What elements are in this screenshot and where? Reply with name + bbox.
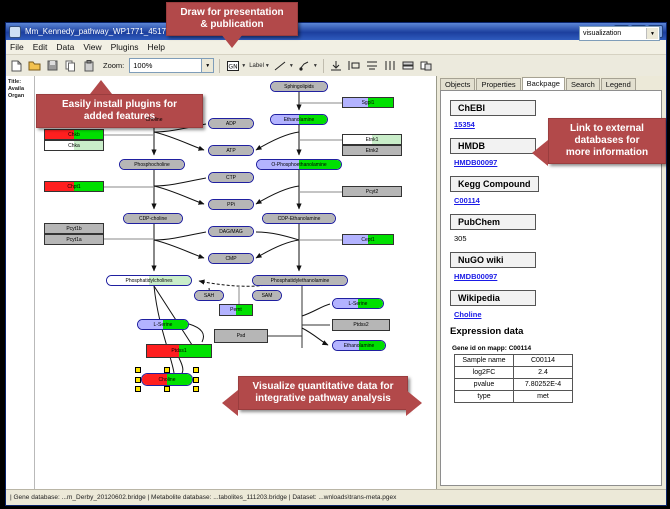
expr-key: log2FC: [455, 367, 514, 379]
svg-text:GN: GN: [228, 63, 237, 70]
interaction-icon[interactable]: [297, 58, 312, 73]
node-label: CMP: [225, 256, 236, 262]
node-label: L-Serine: [349, 301, 368, 307]
wikipedia-header: Wikipedia: [450, 290, 536, 306]
datanode-tool[interactable]: GN ▼: [225, 58, 246, 73]
expr-value: 7.80252E-4: [514, 379, 573, 391]
menu-view[interactable]: View: [83, 42, 101, 52]
tab-objects[interactable]: Objects: [440, 78, 475, 90]
new-file-icon[interactable]: [9, 58, 24, 73]
zoom-combobox[interactable]: 100% ▼: [129, 58, 214, 73]
links-callout-line2: databases for: [554, 135, 660, 147]
expr-value: C00114: [514, 355, 573, 367]
gene-node-pemt[interactable]: Pemt: [219, 304, 253, 316]
node-label: ATP: [226, 148, 235, 154]
metabolite-node-phosphatidylcholines[interactable]: Phosphatidylcholines: [106, 275, 192, 286]
node-label: Pcyt1a: [66, 237, 81, 243]
visualize-callout-arrow-left-icon: [222, 390, 238, 416]
gene-node-psd[interactable]: Psd: [214, 329, 268, 343]
datanode-icon[interactable]: GN: [225, 58, 240, 73]
align-left-icon[interactable]: [347, 58, 362, 73]
plugins-callout-line2: added features: [45, 111, 194, 123]
gene-node-ptdss2[interactable]: Ptdss2: [332, 319, 390, 331]
links-callout-line1: Link to external: [554, 123, 660, 135]
database-entry-nugo: NuGO wiki HMDB00097: [450, 250, 661, 281]
node-label: Chka: [68, 143, 80, 149]
save-icon[interactable]: [45, 58, 60, 73]
metabolite-node-l-serine[interactable]: L-Serine: [332, 298, 384, 309]
node-label: Psd: [237, 333, 246, 339]
node-label: CDP-Ethanolamine: [278, 216, 321, 222]
toolbar: Zoom: 100% ▼ GN ▼ Label▼ ▼ ▼: [6, 55, 666, 77]
gene-node-ptdss1[interactable]: Ptdss1: [146, 344, 212, 358]
links-callout-arrow-icon: [532, 140, 548, 166]
metabolite-node-sam[interactable]: SAM: [252, 290, 282, 301]
gene-node-etnk1[interactable]: Etnk1: [342, 134, 402, 145]
bring-front-icon[interactable]: [419, 58, 434, 73]
menu-help[interactable]: Help: [148, 42, 165, 52]
metabolite-node-phosphatidylethanolamine[interactable]: Phosphatidylethanolamine: [252, 275, 348, 286]
selection-handle[interactable]: [135, 367, 141, 373]
metabolite-node-sah[interactable]: SAH: [194, 290, 224, 301]
paste-icon[interactable]: [81, 58, 96, 73]
gene-node-chkb[interactable]: Chkb: [44, 129, 104, 140]
node-label: CDP-choline: [139, 216, 167, 222]
plugins-callout-arrow-icon: [90, 80, 112, 94]
toolbar-divider: [323, 59, 324, 73]
node-label: Pcyt1b: [66, 226, 81, 232]
metabolite-node-dag-mag[interactable]: DAG/MAG: [208, 226, 254, 237]
screenshot-root: Mm_Kennedy_pathway_WP1771_45176.gpml _ □…: [0, 0, 670, 509]
menu-edit[interactable]: Edit: [33, 42, 48, 52]
open-folder-icon[interactable]: [27, 58, 42, 73]
label-tool[interactable]: Label▼: [249, 63, 270, 69]
chebi-header: ChEBI: [450, 100, 536, 116]
expr-key: type: [455, 391, 514, 403]
tab-search[interactable]: Search: [566, 78, 600, 90]
pathway-diagram[interactable]: SphingolipidsEthanolamineO-Phosphoethano…: [34, 76, 436, 489]
chevron-down-icon[interactable]: ▼: [289, 63, 294, 69]
distribute-vertical-icon[interactable]: [365, 58, 380, 73]
metabolite-node-adp[interactable]: ADP: [208, 118, 254, 129]
line-tool[interactable]: ▼: [273, 58, 294, 73]
menu-plugins[interactable]: Plugins: [111, 42, 139, 52]
nugo-header: NuGO wiki: [450, 252, 536, 268]
expr-value: met: [514, 391, 573, 403]
node-label: Choline: [146, 117, 163, 123]
pathway-meta-sidebar: Title: Availa Organ: [6, 76, 35, 489]
draw-callout-line2: & publication: [175, 19, 289, 31]
metabolite-node-sphingolipids[interactable]: Sphingolipids: [270, 81, 328, 92]
metabolite-node-choline[interactable]: Choline: [141, 373, 193, 386]
menu-bar: File Edit Data View Plugins Help: [6, 40, 666, 55]
pathway-canvas[interactable]: Title: Availa Organ: [6, 76, 437, 489]
interaction-tool[interactable]: ▼: [297, 58, 318, 73]
node-label: DAG/MAG: [219, 229, 243, 235]
gene-node-etnk2[interactable]: Etnk2: [342, 145, 402, 156]
plugins-callout-line1: Easily install plugins for: [45, 99, 194, 111]
metabolite-node-cdp-choline[interactable]: CDP-choline: [123, 213, 183, 224]
table-row: Sample name C00114: [455, 355, 573, 367]
gene-node-pcyt1b[interactable]: Pcyt1b: [44, 223, 104, 234]
label-tool-text[interactable]: Label: [249, 63, 264, 69]
zoom-value[interactable]: 100%: [129, 58, 202, 73]
node-label: Phosphocholine: [134, 162, 170, 168]
visualize-callout-line2: integrative pathway analysis: [247, 393, 399, 405]
draw-callout-arrow-icon: [221, 34, 243, 48]
status-bar: | Gene database: ...m_Derby_20120602.bri…: [6, 489, 666, 505]
selection-handle[interactable]: [164, 386, 170, 392]
database-entry-kegg: Kegg Compound C00114: [450, 174, 661, 205]
gene-node-sgpl1[interactable]: Sgpl1: [342, 97, 394, 108]
database-entry-pubchem: PubChem 305: [450, 212, 661, 243]
node-label: Pemt: [230, 307, 242, 313]
metabolite-node-atp[interactable]: ATP: [208, 145, 254, 156]
metabolite-node-o-phosphoethanolamine[interactable]: O-Phosphoethanolamine: [256, 159, 342, 170]
links-callout-line3: more information: [554, 147, 660, 159]
plugins-callout: Easily install plugins for added feature…: [36, 94, 203, 128]
expression-table: Sample name C00114 log2FC 2.4 pvalue 7.8…: [454, 354, 573, 403]
expr-key: Sample name: [455, 355, 514, 367]
tab-backpage[interactable]: Backpage: [522, 77, 565, 90]
zoom-label: Zoom:: [103, 61, 124, 70]
chevron-down-icon[interactable]: ▼: [646, 28, 658, 39]
chevron-down-icon[interactable]: ▼: [313, 63, 318, 69]
selection-handle[interactable]: [164, 367, 170, 373]
menu-data[interactable]: Data: [56, 42, 74, 52]
meta-organism-label: Organ: [8, 93, 34, 100]
gene-node-chpt1[interactable]: Chpt1: [44, 181, 104, 192]
selection-handle[interactable]: [193, 377, 199, 383]
chevron-down-icon[interactable]: ▼: [202, 58, 214, 73]
table-row: pvalue 7.80252E-4: [455, 379, 573, 391]
chevron-down-icon[interactable]: ▼: [241, 63, 246, 69]
node-label: Cept1: [361, 237, 374, 243]
visualization-value: visualization: [583, 30, 621, 37]
links-callout: Link to external databases for more info…: [548, 118, 666, 164]
database-entry-wikipedia: Wikipedia Choline: [450, 288, 661, 319]
table-row: type met: [455, 391, 573, 403]
table-row: log2FC 2.4: [455, 367, 573, 379]
nugo-link[interactable]: HMDB00097: [454, 272, 661, 281]
pubchem-value: 305: [454, 234, 661, 243]
node-label: O-Phosphoethanolamine: [271, 162, 326, 168]
node-label: Ptdss1: [171, 348, 186, 354]
node-label: Pcyt2: [366, 189, 379, 195]
metabolite-node-l-serine[interactable]: L-Serine: [137, 319, 189, 330]
metabolite-node-ppi[interactable]: PPi: [208, 199, 254, 210]
gene-node-pcyt1a[interactable]: Pcyt1a: [44, 234, 104, 245]
metabolite-node-ethanolamine[interactable]: Ethanolamine: [332, 340, 386, 351]
visualize-callout-arrow-right-icon: [406, 390, 422, 416]
node-label: Etnk2: [366, 148, 379, 154]
line-icon[interactable]: [273, 58, 288, 73]
node-label: Ptdss2: [353, 322, 368, 328]
node-label: Sphingolipids: [284, 84, 314, 90]
visualize-callout: Visualize quantitative data for integrat…: [238, 376, 408, 410]
node-label: Etnk1: [366, 137, 379, 143]
node-label: Chpt1: [67, 184, 80, 190]
selection-handle[interactable]: [135, 386, 141, 392]
node-label: Sgpl1: [362, 100, 375, 106]
kegg-header: Kegg Compound: [450, 176, 539, 192]
align-bottom-icon[interactable]: [329, 58, 344, 73]
node-label: ADP: [226, 121, 236, 127]
gene-node-cept1[interactable]: Cept1: [342, 234, 394, 245]
selection-handle[interactable]: [193, 367, 199, 373]
node-label: CTP: [226, 175, 236, 181]
metabolite-node-phosphocholine[interactable]: Phosphocholine: [119, 159, 185, 170]
app-icon: [9, 26, 21, 38]
meta-availability-label: Availa: [8, 86, 34, 93]
node-label: Phosphatidylcholines: [126, 278, 173, 284]
visualization-select[interactable]: visualization ▼: [579, 26, 660, 41]
selection-handle[interactable]: [135, 377, 141, 383]
gene-node-pcyt2[interactable]: Pcyt2: [342, 186, 402, 197]
expr-value: 2.4: [514, 367, 573, 379]
wikipedia-link[interactable]: Choline: [454, 310, 661, 319]
toolbar-divider: [219, 59, 220, 73]
node-label: Choline: [159, 377, 176, 383]
pubchem-header: PubChem: [450, 214, 536, 230]
gene-id-label: Gene id on mapp: C00114: [452, 345, 661, 352]
gene-node-chka[interactable]: Chka: [44, 140, 104, 151]
visualize-callout-line1: Visualize quantitative data for: [247, 381, 399, 393]
copy-icon[interactable]: [63, 58, 78, 73]
node-label: SAM: [262, 293, 273, 299]
node-label: Phosphatidylethanolamine: [271, 278, 330, 284]
tab-properties[interactable]: Properties: [476, 78, 520, 90]
meta-title-label: Title:: [8, 79, 34, 86]
distribute-horizontal-icon[interactable]: [383, 58, 398, 73]
kegg-link[interactable]: C00114: [454, 196, 661, 205]
selection-handle[interactable]: [193, 386, 199, 392]
expr-key: pvalue: [455, 379, 514, 391]
node-label: Ethanolamine: [284, 117, 315, 123]
node-label: SAH: [204, 293, 214, 299]
expression-data-title: Expression data: [450, 326, 661, 337]
node-label: PPi: [227, 202, 235, 208]
chevron-down-icon[interactable]: ▼: [265, 63, 270, 69]
title-bar: Mm_Kennedy_pathway_WP1771_45176.gpml _ □…: [6, 23, 666, 40]
metabolite-node-ctp[interactable]: CTP: [208, 172, 254, 183]
node-label: Ethanolamine: [344, 343, 375, 349]
side-panel-tabs[interactable]: Objects Properties Backpage Search Legen…: [437, 76, 666, 90]
menu-file[interactable]: File: [10, 42, 24, 52]
hmdb-header: HMDB: [450, 138, 536, 154]
metabolite-node-cdp-ethanolamine[interactable]: CDP-Ethanolamine: [262, 213, 336, 224]
metabolite-node-cmp[interactable]: CMP: [208, 253, 254, 264]
metabolite-node-ethanolamine[interactable]: Ethanolamine: [270, 114, 328, 125]
tab-legend[interactable]: Legend: [601, 78, 636, 90]
draw-callout: Draw for presentation & publication: [166, 2, 298, 36]
draw-callout-line1: Draw for presentation: [175, 7, 289, 19]
node-label: L-Serine: [154, 322, 173, 328]
stack-icon[interactable]: [401, 58, 416, 73]
application-window: Mm_Kennedy_pathway_WP1771_45176.gpml _ □…: [5, 22, 667, 506]
node-label: Chkb: [68, 132, 80, 138]
